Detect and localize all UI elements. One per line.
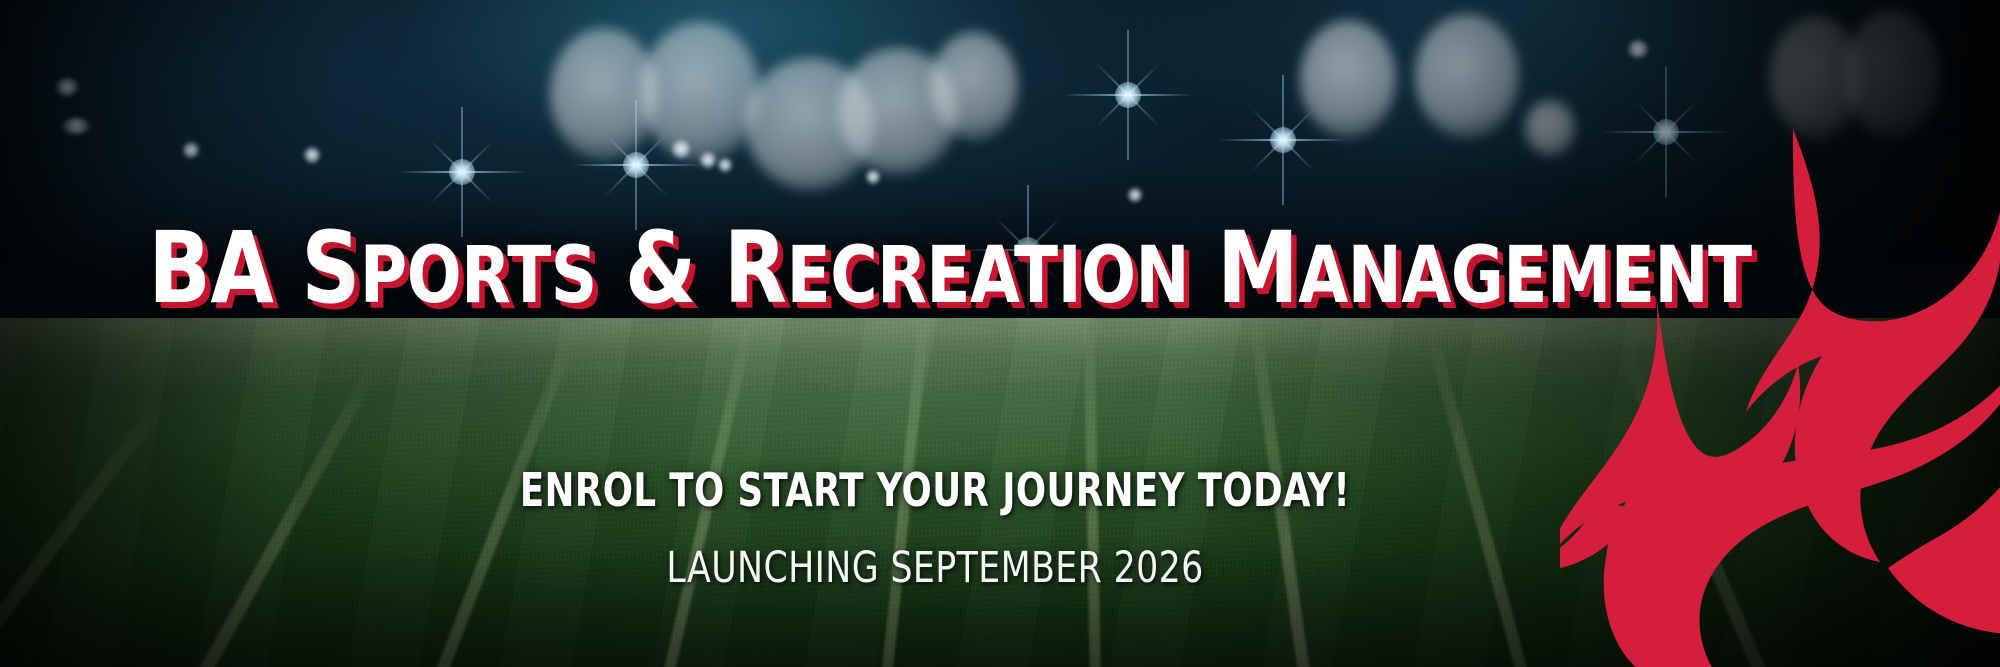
sparkle-light bbox=[700, 152, 716, 168]
bokeh-light bbox=[930, 32, 1018, 140]
headline-part: ECREATION bbox=[787, 231, 1190, 321]
sparkle-light bbox=[1128, 188, 1142, 202]
headline-part: ANAGEMENT bbox=[1298, 231, 1751, 321]
sparkle-light bbox=[718, 158, 732, 172]
promo-banner: BA SPORTS & RECREATION MANAGEMENT ENROL … bbox=[0, 0, 2000, 667]
lens-flare bbox=[1063, 30, 1193, 160]
sparkle-light bbox=[866, 170, 880, 184]
launch-date-text: LAUNCHING SEPTEMBER 2026 bbox=[94, 543, 1777, 593]
sparkle-light bbox=[672, 140, 690, 158]
headline-part: M bbox=[1189, 211, 1298, 326]
bokeh-light bbox=[1300, 20, 1396, 138]
headline-part: BA S bbox=[148, 211, 360, 326]
page-title: BA SPORTS & RECREATION MANAGEMENT bbox=[76, 218, 1824, 321]
bokeh-light bbox=[640, 22, 760, 162]
headline-part: & R bbox=[597, 211, 787, 326]
cta-text: ENROL TO START YOUR JOURNEY TODAY! bbox=[131, 463, 1739, 517]
headline-part: PORTS bbox=[360, 231, 597, 321]
